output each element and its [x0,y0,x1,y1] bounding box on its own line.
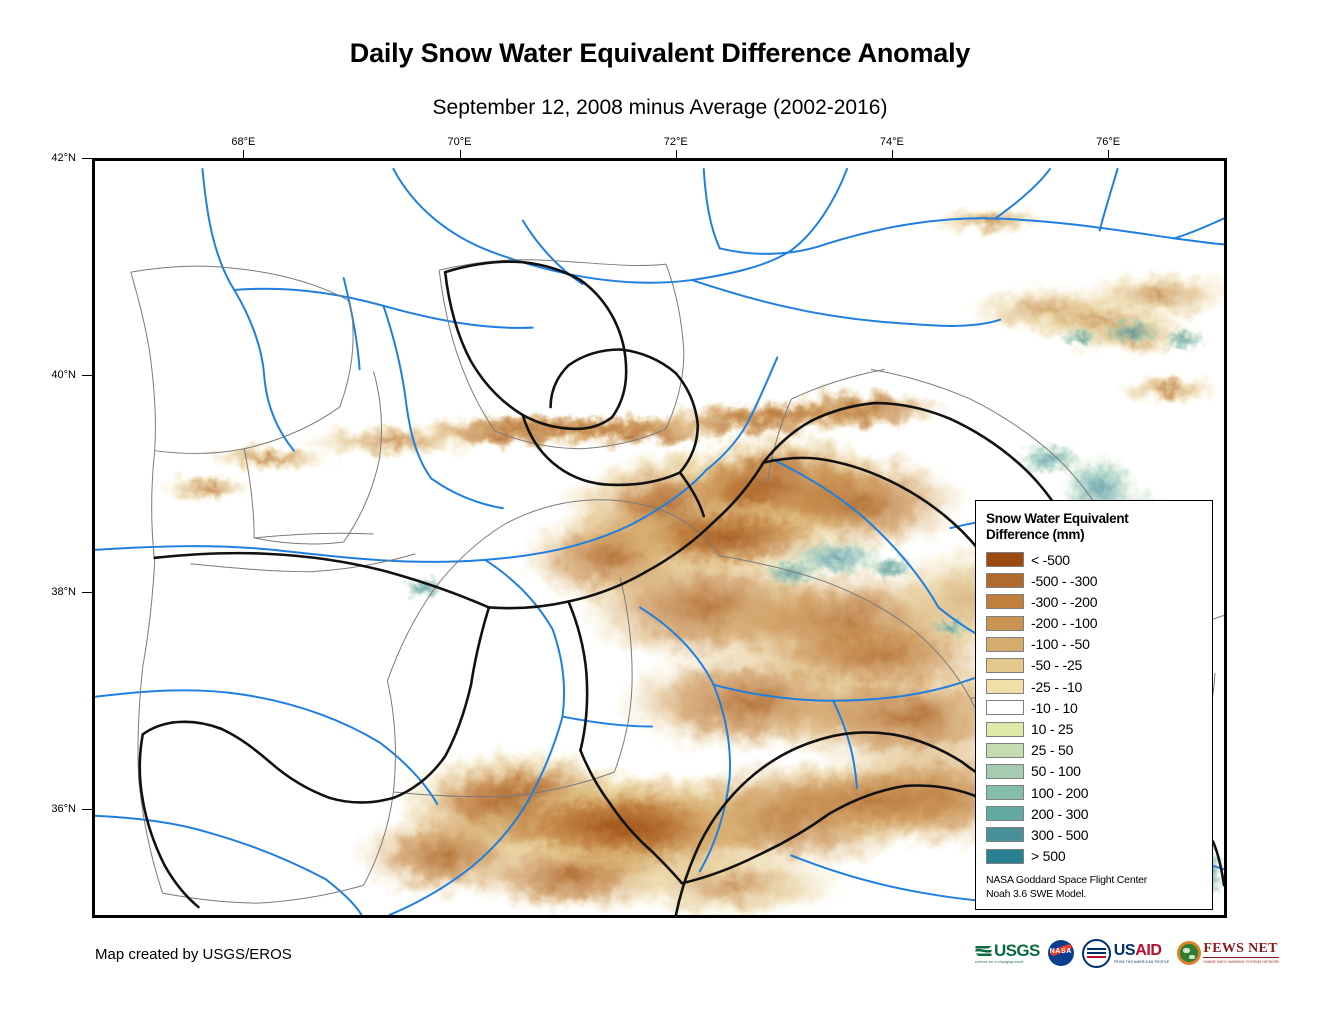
legend-row[interactable]: 100 - 200 [986,782,1204,803]
usaid-wordmark: USAID [1114,943,1170,959]
legend-row[interactable]: -200 - -100 [986,613,1204,634]
fews-net-tagline: FAMINE EARLY WARNING SYSTEMS NETWORK [1203,960,1279,964]
legend-swatch [986,849,1024,864]
legend-swatch [986,637,1024,652]
legend-row[interactable]: > 500 [986,846,1204,867]
legend-label: 200 - 300 [1031,806,1088,822]
legend-swatch [986,785,1024,800]
fews-net-logo[interactable]: FEWS NET FAMINE EARLY WARNING SYSTEMS NE… [1177,938,1279,968]
legend-label: -500 - -300 [1031,573,1097,589]
map-legend[interactable]: Snow Water Equivalent Difference (mm) < … [975,500,1213,910]
map-credit: Map created by USGS/EROS [95,946,292,963]
legend-row[interactable]: 10 - 25 [986,718,1204,739]
legend-source-line2: Noah 3.6 SWE Model. [986,887,1204,901]
usgs-logo[interactable]: USGS science for a changing world [975,938,1040,968]
nasa-meatball-icon: NASA [1048,940,1074,966]
legend-swatch [986,616,1024,631]
legend-swatch [986,700,1024,715]
legend-swatch [986,679,1024,694]
legend-swatch [986,743,1024,758]
latitude-tick-label: 40°N [51,369,76,381]
legend-label: -100 - -50 [1031,636,1090,652]
legend-source-line1: NASA Goddard Space Flight Center [986,873,1204,887]
legend-title: Snow Water Equivalent Difference (mm) [986,511,1204,544]
fews-globe-icon [1177,941,1201,965]
usaid-word-us: US [1114,942,1135,959]
legend-swatch [986,722,1024,737]
nasa-wordmark: NASA [1048,948,1074,955]
legend-label: 25 - 50 [1031,742,1073,758]
usgs-wordmark: USGS [994,942,1040,959]
legend-row[interactable]: 300 - 500 [986,824,1204,845]
legend-label: -10 - 10 [1031,700,1078,716]
page-subtitle: September 12, 2008 minus Average (2002-2… [0,96,1320,120]
agency-logo-bar: USGS science for a changing world NASA U… [975,936,1279,970]
legend-source-note: NASA Goddard Space Flight Center Noah 3.… [986,873,1204,901]
legend-swatch [986,573,1024,588]
legend-row[interactable]: -100 - -50 [986,634,1204,655]
fews-net-wordmark: FEWS NET [1203,942,1279,958]
usaid-seal-icon [1082,939,1111,968]
usaid-tagline: FROM THE AMERICAN PEOPLE [1114,960,1170,964]
legend-row[interactable]: -50 - -25 [986,655,1204,676]
legend-swatch [986,827,1024,842]
longitude-tick-label: 70°E [448,136,472,148]
longitude-tick-label: 74°E [880,136,904,148]
legend-class-list: < -500-500 - -300-300 - -200-200 - -100-… [986,549,1204,867]
usgs-wave-icon [975,943,992,958]
page-title: Daily Snow Water Equivalent Difference A… [0,38,1320,69]
latitude-tick-label: 42°N [51,152,76,164]
legend-label: -300 - -200 [1031,594,1097,610]
nasa-logo[interactable]: NASA [1048,938,1074,968]
usaid-word-aid: AID [1135,942,1161,959]
legend-row[interactable]: < -500 [986,549,1204,570]
legend-swatch [986,552,1024,567]
legend-swatch [986,764,1024,779]
legend-row[interactable]: -300 - -200 [986,591,1204,612]
longitude-tick-label: 72°E [664,136,688,148]
legend-swatch [986,806,1024,821]
legend-label: 100 - 200 [1031,785,1088,801]
latitude-tick-label: 36°N [51,803,76,815]
legend-label: -200 - -100 [1031,615,1097,631]
legend-row[interactable]: 200 - 300 [986,803,1204,824]
legend-row[interactable]: 25 - 50 [986,740,1204,761]
usaid-logo[interactable]: USAID FROM THE AMERICAN PEOPLE [1082,938,1170,968]
legend-title-line1: Snow Water Equivalent [986,511,1204,527]
legend-label: -25 - -10 [1031,679,1082,695]
legend-title-line2: Difference (mm) [986,527,1204,543]
legend-label: 50 - 100 [1031,763,1081,779]
legend-label: 10 - 25 [1031,721,1073,737]
longitude-tick-label: 68°E [231,136,255,148]
legend-label: < -500 [1031,552,1070,568]
legend-label: -50 - -25 [1031,657,1082,673]
legend-label: 300 - 500 [1031,827,1088,843]
legend-row[interactable]: -10 - 10 [986,697,1204,718]
legend-row[interactable]: -25 - -10 [986,676,1204,697]
longitude-tick-label: 76°E [1096,136,1120,148]
legend-row[interactable]: -500 - -300 [986,570,1204,591]
legend-swatch [986,594,1024,609]
legend-row[interactable]: 50 - 100 [986,761,1204,782]
usgs-tagline: science for a changing world [975,960,1040,964]
legend-swatch [986,658,1024,673]
legend-label: > 500 [1031,848,1065,864]
latitude-tick-label: 38°N [51,586,76,598]
